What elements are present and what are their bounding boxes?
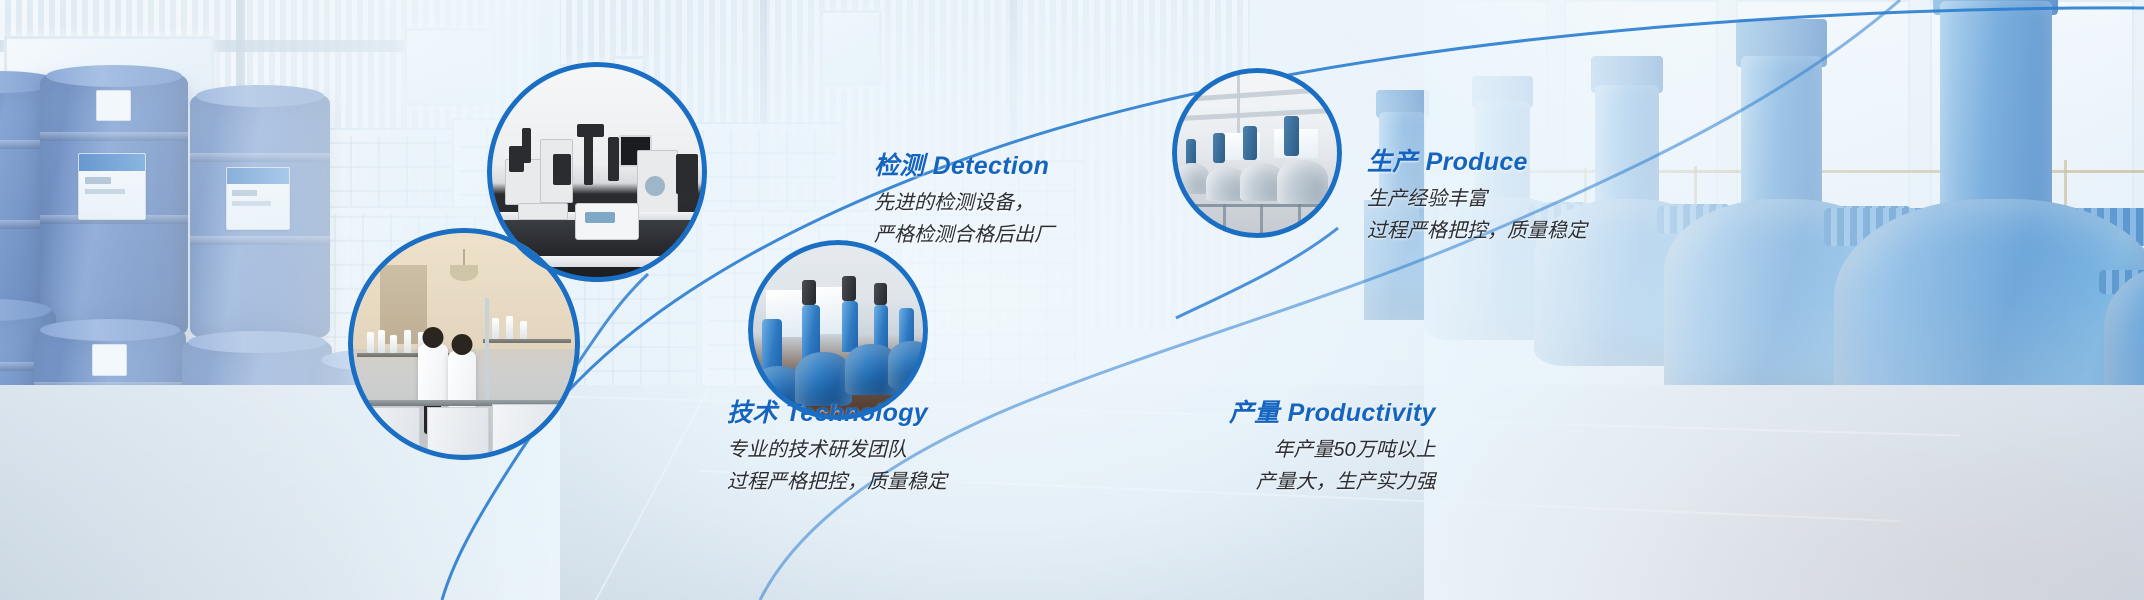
reagent-bottle: [390, 335, 397, 354]
rail-post: [1223, 204, 1226, 238]
lab-instrument: [676, 154, 698, 194]
sample-tray: [518, 203, 568, 220]
reagent-bottle: [367, 332, 374, 353]
agitator-motor: [1284, 116, 1299, 157]
productivity-heading: 产量Productivity: [1229, 393, 1436, 429]
productivity-line-1: 年产量50万吨以上: [1229, 436, 1436, 464]
feature-text-productivity: 产量Productivity 年产量50万吨以上 产量大，生产实力强: [1229, 393, 1436, 501]
technology-line-2: 过程严格把控，质量稳定: [727, 468, 947, 496]
roof-beam: [1172, 107, 1342, 122]
reactor-vessel: [1277, 160, 1328, 204]
reagent-bottle: [492, 318, 499, 339]
reactor-column: [802, 305, 820, 359]
lab-cabinet: [427, 407, 489, 455]
productivity-line-2: 产量大，生产实力强: [1229, 468, 1436, 496]
detection-line-2: 严格检测合格后出厂: [874, 221, 1054, 249]
detection-heading-cn: 检测: [874, 152, 925, 180]
feature-photo-produce[interactable]: [1172, 68, 1342, 238]
reagent-bottle: [378, 330, 385, 353]
technician-head: [422, 327, 443, 348]
produce-heading: 生产Produce: [1367, 142, 1587, 178]
detection-line-1: 先进的检测设备，: [874, 189, 1054, 217]
arc-connector-produce-productivity: [1176, 228, 1338, 318]
agitator-motor: [842, 276, 856, 301]
rail-post: [1298, 204, 1301, 238]
detection-heading-en: Detection: [933, 152, 1050, 180]
agitator-motor: [802, 280, 816, 305]
agitator-motor: [1243, 126, 1257, 160]
electronic-scale: [575, 203, 639, 240]
lab-cabinet: [353, 407, 420, 455]
reactor-vessel: [888, 341, 928, 388]
feature-text-detection: 检测Detection 先进的检测设备， 严格检测合格后出厂: [874, 146, 1054, 254]
lab-shelf: [483, 339, 571, 343]
lab-technician: [418, 344, 448, 404]
lab-instrument: [522, 128, 531, 163]
roof-column: [1237, 75, 1240, 136]
produce-line-1: 生产经验丰富: [1367, 185, 1587, 213]
lab-instrument: [577, 124, 603, 137]
feature-text-produce: 生产Produce 生产经验丰富 过程严格把控，质量稳定: [1367, 142, 1587, 250]
lab-instrument: [608, 137, 619, 181]
lab-instrument: [553, 154, 571, 185]
technology-line-1: 专业的技术研发团队: [727, 436, 947, 464]
lab-technician: [448, 351, 476, 407]
technology-photo: [348, 228, 580, 460]
agitator-motor: [874, 283, 887, 305]
produce-heading-cn: 生产: [1367, 148, 1418, 176]
technician-head: [451, 334, 472, 355]
detection-heading: 检测Detection: [874, 146, 1054, 182]
rail-post: [1260, 204, 1263, 238]
rail-post: [1192, 204, 1195, 238]
lab-cabinet: [492, 404, 564, 455]
arc-connector-detect-tech: [572, 274, 648, 372]
reagent-bottle: [404, 330, 411, 353]
connector-arcs: [0, 0, 2144, 600]
produce-heading-en: Produce: [1426, 148, 1528, 176]
fume-hood-frame: [485, 298, 489, 405]
technology-heading: 技术Technology: [727, 393, 947, 429]
technology-heading-en: Technology: [786, 399, 928, 427]
productivity-heading-en: Productivity: [1288, 399, 1436, 427]
produce-photo: [1172, 68, 1342, 238]
feature-text-technology: 技术Technology 专业的技术研发团队 过程严格把控，质量稳定: [727, 393, 947, 501]
reactor-vessel: [1175, 163, 1209, 194]
technology-heading-cn: 技术: [727, 399, 778, 427]
agitator-motor: [1213, 133, 1225, 164]
reactor-column: [842, 301, 858, 351]
produce-line-2: 过程严格把控，质量稳定: [1367, 217, 1587, 245]
productivity-heading-cn: 产量: [1229, 399, 1280, 427]
reagent-bottle: [520, 321, 527, 340]
reagent-bottle: [506, 316, 513, 339]
feature-photo-technology[interactable]: [348, 228, 580, 460]
capability-banner: 检测Detection 先进的检测设备， 严格检测合格后出厂 生产Produce…: [0, 0, 2144, 600]
safety-rail: [1172, 204, 1342, 207]
